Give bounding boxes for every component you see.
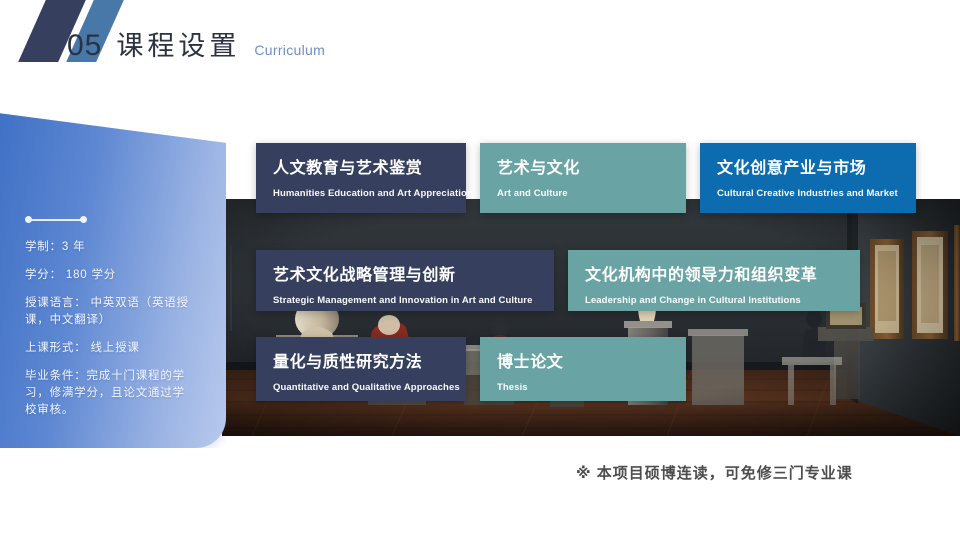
course-title-cn: 人文教育与艺术鉴赏 (273, 159, 449, 179)
course-card[interactable]: 艺术与文化 Art and Culture (480, 143, 686, 213)
course-title-cn: 文化创意产业与市场 (717, 159, 899, 179)
info-line-duration: 学制：3 年 (25, 239, 197, 256)
course-title-en: Thesis (497, 382, 669, 393)
course-title-cn: 艺术与文化 (497, 159, 669, 179)
course-card[interactable]: 文化机构中的领导力和组织变革 Leadership and Change in … (568, 250, 860, 311)
course-title-en: Humanities Education and Art Appreciatio… (273, 188, 449, 199)
info-line-format: 上课形式： 线上授课 (25, 340, 197, 357)
page-title: 05 课程设置 Curriculum (67, 24, 325, 63)
course-card[interactable]: 量化与质性研究方法 Quantitative and Qualitative A… (256, 337, 466, 401)
course-card[interactable]: 人文教育与艺术鉴赏 Humanities Education and Art A… (256, 143, 466, 213)
course-card[interactable]: 艺术文化战略管理与创新 Strategic Management and Inn… (256, 250, 554, 311)
slide-header: 05 课程设置 Curriculum (0, 0, 960, 95)
decorative-dot-line-icon (25, 215, 87, 225)
program-info-panel: 学制：3 年 学分： 180 学分 授课语言： 中英双语（英语授课，中文翻译） … (0, 112, 226, 448)
footnote-text: ※ 本项目硕博连读，可免修三门专业课 (576, 462, 853, 483)
course-title-en: Art and Culture (497, 188, 669, 199)
section-title-en: Curriculum (254, 42, 325, 58)
course-title-cn: 博士论文 (497, 353, 669, 373)
course-title-en: Quantitative and Qualitative Approaches (273, 382, 449, 393)
course-title-cn: 文化机构中的领导力和组织变革 (585, 266, 843, 286)
course-card[interactable]: 博士论文 Thesis (480, 337, 686, 401)
course-title-cn: 量化与质性研究方法 (273, 353, 449, 373)
section-title-cn: 课程设置 (116, 24, 240, 63)
course-title-en: Leadership and Change in Cultural Instit… (585, 295, 843, 306)
info-line-language: 授课语言： 中英双语（英语授课，中文翻译） (25, 295, 197, 329)
section-number: 05 (67, 29, 102, 63)
info-line-credits: 学分： 180 学分 (25, 267, 197, 284)
info-line-graduation: 毕业条件：完成十门课程的学习，修满学分，且论文通过学校审核。 (25, 368, 197, 419)
course-title-en: Strategic Management and Innovation in A… (273, 295, 537, 306)
course-title-en: Cultural Creative Industries and Market (717, 188, 899, 199)
course-card[interactable]: 文化创意产业与市场 Cultural Creative Industries a… (700, 143, 916, 213)
course-title-cn: 艺术文化战略管理与创新 (273, 266, 537, 286)
